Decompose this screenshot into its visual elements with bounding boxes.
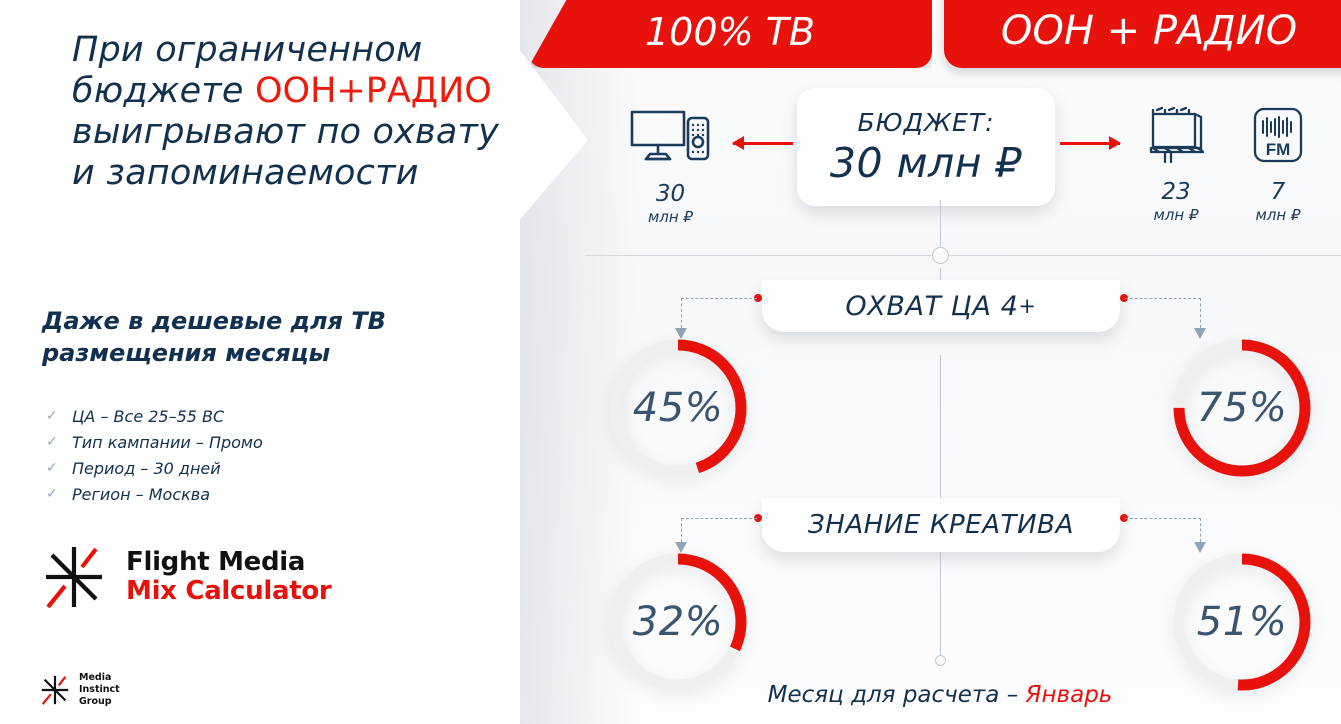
connector-horizontal <box>1125 298 1201 299</box>
timeline-node-top <box>932 247 949 264</box>
channel-tv: 30 млн ₽ <box>608 106 733 226</box>
donut-ooh-reach: 75% <box>1168 334 1316 482</box>
tv-icon <box>628 106 714 172</box>
connector-horizontal <box>1125 518 1201 519</box>
headline-line-2-prefix: бюджете <box>72 71 255 111</box>
list-item: ✓ ЦА – Все 25–55 ВС <box>46 405 466 428</box>
brand-logo: Flight Media Mix Calculator <box>38 541 331 613</box>
donut-tv-knowledge-value: 32% <box>604 548 752 696</box>
connector-vertical <box>1200 298 1201 328</box>
channel-ooh: 23 млн ₽ <box>1124 104 1228 224</box>
tv-budget-unit: млн ₽ <box>648 208 693 226</box>
agency-line-3: Group <box>79 696 120 708</box>
calculation-month-note: Месяц для расчета – Январь <box>720 682 1160 708</box>
headline-line-4: и запоминаемости <box>72 153 572 194</box>
brand-wordmark: Flight Media Mix Calculator <box>126 548 331 606</box>
connector-vertical <box>681 518 682 542</box>
list-item-label: Регион – Москва <box>72 483 210 506</box>
arrow-right-icon <box>1060 142 1120 145</box>
tab-scenario-ooh-radio[interactable]: ООН + РАДИО <box>944 0 1341 68</box>
check-icon: ✓ <box>46 431 72 454</box>
media-instinct-star-icon <box>38 673 72 707</box>
section-divider <box>585 255 1341 256</box>
billboard-icon <box>1145 104 1207 170</box>
infographic-canvas: 100% ТВ ООН + РАДИО При ограниченном бюд… <box>0 0 1341 724</box>
headline-line-1: При ограниченном <box>72 30 572 71</box>
budget-label: БЮДЖЕТ: <box>857 108 994 137</box>
agency-line-2: Instinct <box>79 684 120 696</box>
radio-budget-value: 7 <box>1271 179 1286 205</box>
donut-tv-reach: 45% <box>604 334 752 482</box>
parameters-list: ✓ ЦА – Все 25–55 ВС ✓ Тип кампании – Про… <box>46 405 466 509</box>
tab-scenario-tv[interactable]: 100% ТВ <box>528 0 932 68</box>
radio-budget-unit: млн ₽ <box>1255 206 1300 224</box>
brand-line-2: Mix Calculator <box>126 577 331 606</box>
check-icon: ✓ <box>46 483 72 506</box>
section-title-knowledge: ЗНАНИЕ КРЕАТИВА <box>762 498 1120 552</box>
budget-card: БЮДЖЕТ: 30 млн ₽ <box>797 88 1055 206</box>
radio-fm-icon: FM <box>1249 104 1307 170</box>
svg-text:FM: FM <box>1266 140 1291 159</box>
donut-ooh-knowledge-value: 51% <box>1168 548 1316 696</box>
tv-budget-value: 30 <box>656 181 685 207</box>
agency-line-1: Media <box>79 672 120 684</box>
timeline-spine-bottom <box>940 545 941 660</box>
section-title-knowledge-label: ЗНАНИЕ КРЕАТИВА <box>808 510 1074 540</box>
check-icon: ✓ <box>46 457 72 480</box>
check-icon: ✓ <box>46 405 72 428</box>
tab-ooh-label: ООН + РАДИО <box>1001 8 1297 54</box>
budget-value: 30 млн ₽ <box>830 139 1022 187</box>
ooh-budget-value: 23 <box>1161 179 1190 205</box>
donut-tv-reach-value: 45% <box>604 334 752 482</box>
headline-line-2: бюджете ООН+РАДИО <box>72 71 572 112</box>
timeline-node-bottom <box>935 655 946 666</box>
agency-wordmark: Media Instinct Group <box>79 672 120 708</box>
donut-ooh-reach-value: 75% <box>1168 334 1316 482</box>
list-item-label: Период – 30 дней <box>72 457 221 480</box>
timeline-spine-middle <box>940 355 941 515</box>
list-item: ✓ Тип кампании – Промо <box>46 431 466 454</box>
headline-line-3: выигрывают по охвату <box>72 112 572 153</box>
calculation-month-value: Январь <box>1026 682 1113 708</box>
ooh-budget-unit: млн ₽ <box>1153 206 1198 224</box>
flight-media-star-icon <box>38 541 110 613</box>
arrow-left-icon <box>733 142 793 145</box>
agency-logo: Media Instinct Group <box>38 672 120 708</box>
page-title: При ограниченном бюджете ООН+РАДИО выигр… <box>72 30 572 194</box>
connector-horizontal <box>681 518 757 519</box>
sidebar-subtitle: Даже в дешевые для ТВ размещения месяцы <box>42 305 462 369</box>
calculation-month-prefix: Месяц для расчета – <box>768 682 1026 708</box>
donut-ooh-knowledge: 51% <box>1168 548 1316 696</box>
brand-line-1: Flight Media <box>126 548 331 577</box>
list-item-label: ЦА – Все 25–55 ВС <box>72 405 224 428</box>
list-item: ✓ Регион – Москва <box>46 483 466 506</box>
list-item-label: Тип кампании – Промо <box>72 431 263 454</box>
section-title-reach-sup: + <box>1018 294 1036 318</box>
section-title-reach: ОХВАТ ЦА 4+ <box>762 280 1120 332</box>
section-title-reach-label: ОХВАТ ЦА 4 <box>845 291 1018 322</box>
connector-horizontal <box>681 298 757 299</box>
connector-vertical <box>681 298 682 328</box>
tab-tv-label: 100% ТВ <box>645 10 815 54</box>
headline-highlight: ООН+РАДИО <box>255 71 492 111</box>
list-item: ✓ Период – 30 дней <box>46 457 466 480</box>
channel-radio: FM 7 млн ₽ <box>1228 104 1328 224</box>
connector-vertical <box>1200 518 1201 542</box>
donut-tv-knowledge: 32% <box>604 548 752 696</box>
